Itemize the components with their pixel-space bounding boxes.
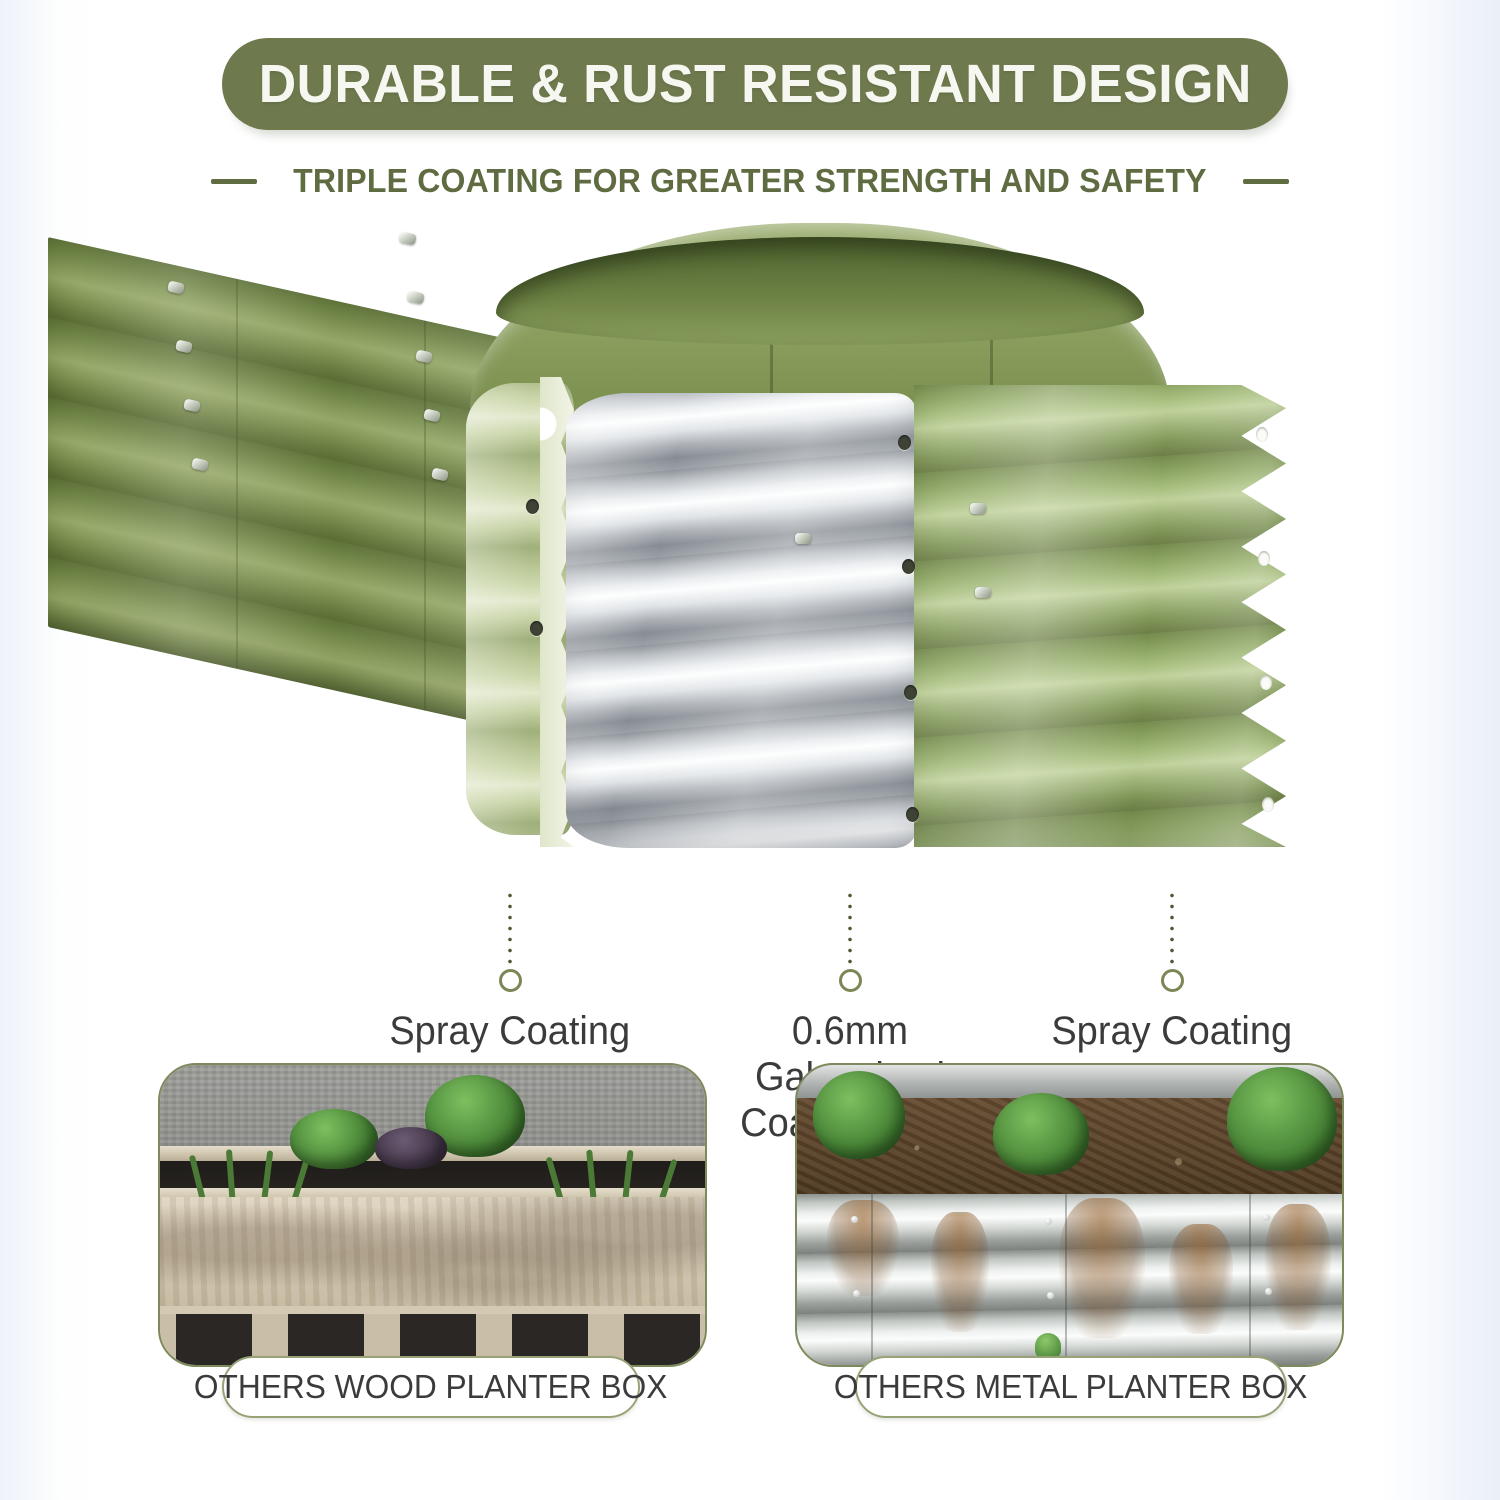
panel-seam xyxy=(1065,1194,1067,1365)
callout-label: Spray Coating xyxy=(390,1008,631,1054)
screw-icon xyxy=(970,503,986,514)
wood-planter-photo xyxy=(160,1065,705,1365)
tomato-plant xyxy=(1227,1067,1337,1171)
screw-icon xyxy=(399,231,417,245)
page-subtitle: TRIPLE COATING FOR GREATER STRENGTH AND … xyxy=(293,162,1207,200)
mounting-hole xyxy=(526,499,539,514)
screw-icon xyxy=(407,290,425,304)
leader-line xyxy=(848,890,852,966)
leader-line xyxy=(508,890,512,966)
mounting-hole xyxy=(1258,551,1270,566)
caption-text: OTHERS WOOD PLANTER BOX xyxy=(194,1368,668,1406)
basil-plant xyxy=(290,1109,378,1169)
comparison-card-wood xyxy=(158,1063,707,1367)
infographic-page: DURABLE & RUST RESISTANT DESIGN TRIPLE C… xyxy=(0,0,1500,1500)
page-title: DURABLE & RUST RESISTANT DESIGN xyxy=(258,53,1251,115)
wood-front-board xyxy=(160,1197,705,1317)
leader-line xyxy=(1170,890,1174,966)
mounting-hole xyxy=(898,435,911,450)
callout-label: Spray Coating xyxy=(1052,1008,1293,1054)
mounting-hole xyxy=(1260,675,1272,690)
purple-basil-plant xyxy=(375,1127,447,1169)
dash-left-icon xyxy=(211,179,257,184)
pepper-plant xyxy=(813,1071,905,1159)
rust-stain xyxy=(931,1212,989,1332)
screw-icon xyxy=(795,533,811,544)
rivet-icon xyxy=(851,1216,858,1223)
galvanized-steel-layer xyxy=(566,393,916,848)
tomato-plant xyxy=(993,1093,1089,1175)
bed-front-body xyxy=(466,383,1286,863)
title-banner: DURABLE & RUST RESISTANT DESIGN xyxy=(222,38,1288,130)
metal-planter-photo xyxy=(797,1065,1342,1365)
screw-icon xyxy=(975,587,991,598)
caption-wood-planter: OTHERS WOOD PLANTER BOX xyxy=(222,1356,640,1418)
callout-dot-icon xyxy=(499,969,522,992)
panel-seam xyxy=(871,1194,873,1365)
corrugated-metal-wall xyxy=(797,1194,1342,1365)
mounting-hole xyxy=(1256,427,1268,442)
mounting-hole xyxy=(904,685,917,700)
comparison-card-metal xyxy=(795,1063,1344,1367)
caption-metal-planter: OTHERS METAL PLANTER BOX xyxy=(855,1356,1287,1418)
rust-stain xyxy=(827,1200,899,1296)
rust-stain xyxy=(1265,1204,1331,1330)
panel-seam xyxy=(1249,1194,1251,1365)
callout-spray-coating-right: Spray Coating xyxy=(1022,890,1322,1054)
mounting-hole xyxy=(1262,797,1274,812)
mounting-hole xyxy=(902,559,915,574)
subtitle-row: TRIPLE COATING FOR GREATER STRENGTH AND … xyxy=(0,158,1500,204)
rivet-icon xyxy=(1265,1288,1272,1295)
mounting-hole xyxy=(530,621,543,636)
spray-coating-layer-right xyxy=(914,385,1286,847)
rust-stain xyxy=(1059,1198,1145,1338)
callout-spray-coating-left: Spray Coating xyxy=(360,890,660,1054)
callout-dot-icon xyxy=(839,969,862,992)
rivet-icon xyxy=(1047,1292,1054,1299)
caption-text: OTHERS METAL PLANTER BOX xyxy=(834,1368,1308,1406)
hero-product-illustration xyxy=(0,215,1500,915)
rivet-icon xyxy=(1045,1218,1052,1225)
rust-stain xyxy=(1169,1224,1233,1334)
mounting-hole xyxy=(906,807,919,822)
rivet-icon xyxy=(1263,1214,1270,1221)
dash-right-icon xyxy=(1243,179,1289,184)
rivet-icon xyxy=(853,1290,860,1297)
callout-dot-icon xyxy=(1161,969,1184,992)
